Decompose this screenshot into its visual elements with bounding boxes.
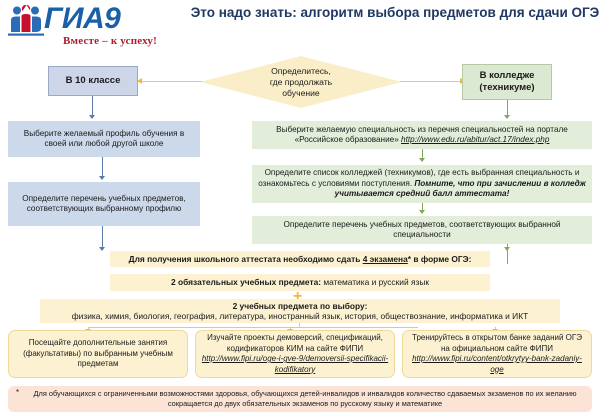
- footnote-text: Для обучающихся с ограниченными возможно…: [16, 389, 584, 409]
- box-right-step-1: Выберите желаемую специальность из переч…: [252, 121, 592, 149]
- logo-wordmark: ГИА9: [44, 3, 120, 35]
- decision-line-3: обучение: [282, 88, 319, 98]
- box-college: В колледже (техникуме): [462, 64, 552, 100]
- box-grade-10: В 10 классе: [48, 66, 138, 96]
- arrow-down-icon: [504, 247, 510, 251]
- box-action-3-text: Тренируйтесь в открытом банке заданий ОГ…: [412, 333, 582, 353]
- footnote-star: *: [16, 388, 19, 397]
- box-action-2-text: Изучайте проекты демоверсий, спецификаци…: [207, 333, 383, 353]
- infographic-page: ГИА9 Вместе – к успеху! Это надо знать: …: [0, 0, 600, 415]
- box-left-step-1: Выберите желаемый профиль обучения в сво…: [8, 121, 200, 157]
- fipi-task-bank-link[interactable]: http://www.fipi.ru/content/otkrytyy-bank…: [412, 354, 582, 374]
- page-title: Это надо знать: алгоритм выбора предмето…: [185, 4, 600, 21]
- band-1-suffix: в форме ОГЭ:: [411, 254, 471, 264]
- band-3-label: 2 учебных предмета по выбору:: [233, 301, 368, 311]
- band-3-subjects: физика, химия, биология, география, лите…: [72, 311, 528, 321]
- box-right-step-3: Определите перечень учебных предметов, с…: [252, 216, 592, 244]
- connector-decision-to-left: [142, 81, 202, 82]
- arrow-down-icon: [99, 176, 105, 180]
- box-left-step-1-text: Выберите желаемый профиль обучения в сво…: [12, 129, 196, 150]
- box-grade-10-label: В 10 классе: [66, 76, 121, 87]
- box-action-1-text: Посещайте дополнительные занятия (факуль…: [13, 338, 183, 370]
- decision-where-to-study: Определитесь, где продолжать обучение: [200, 56, 402, 108]
- arrow-down-icon: [99, 247, 105, 251]
- decision-line-2: где продолжать: [270, 77, 332, 87]
- box-left-step-2: Определите перечень учебных предметов, с…: [8, 182, 200, 226]
- box-action-demoversions: Изучайте проекты демоверсий, спецификаци…: [195, 330, 395, 378]
- box-college-line-1: В колледже: [480, 70, 535, 81]
- box-action-task-bank: Тренируйтесь в открытом банке заданий ОГ…: [402, 330, 592, 378]
- brand-logo: ГИА9 Вместе – к успеху!: [6, 3, 176, 49]
- band-elective-subjects: 2 учебных предмета по выбору: физика, хи…: [40, 299, 560, 323]
- band-2-label: 2 обязательных учебных предмета:: [171, 277, 321, 287]
- band-exams-required: Для получения школьного аттестата необхо…: [110, 251, 490, 267]
- box-college-line-2: (техникуме): [479, 82, 534, 93]
- logo-tagline: Вместе – к успеху!: [40, 35, 180, 47]
- box-left-step-2-text: Определите перечень учебных предметов, с…: [12, 194, 196, 215]
- arrow-down-icon: [504, 115, 510, 119]
- footnote-box: Для обучающихся с ограниченными возможно…: [8, 386, 592, 412]
- band-2-subjects: математика и русский язык: [321, 277, 429, 287]
- box-action-extra-classes: Посещайте дополнительные занятия (факуль…: [8, 330, 188, 378]
- box-right-step-2: Определите список колледжей (техникумов)…: [252, 165, 592, 203]
- band-1-count: 4 экзамена: [363, 254, 408, 264]
- fipi-demoversions-link[interactable]: http://www.fipi.ru/oge-i-gve-9/demoversi…: [202, 354, 388, 374]
- connector-decision-to-right: [400, 81, 461, 82]
- arrow-down-icon: [419, 158, 425, 162]
- gia9-people-logo-icon: [6, 5, 46, 38]
- box-right-step-3-text: Определите перечень учебных предметов, с…: [256, 220, 588, 241]
- arrow-down-icon: [419, 210, 425, 214]
- decision-line-1: Определитесь,: [271, 66, 331, 76]
- connector-fanout-bar: [88, 327, 418, 328]
- band-1-prefix: Для получения школьного аттестата необхо…: [129, 254, 363, 264]
- arrow-down-icon: [89, 115, 95, 119]
- edu-portal-link[interactable]: http://www.edu.ru/abitur/act.17/index.ph…: [401, 135, 549, 144]
